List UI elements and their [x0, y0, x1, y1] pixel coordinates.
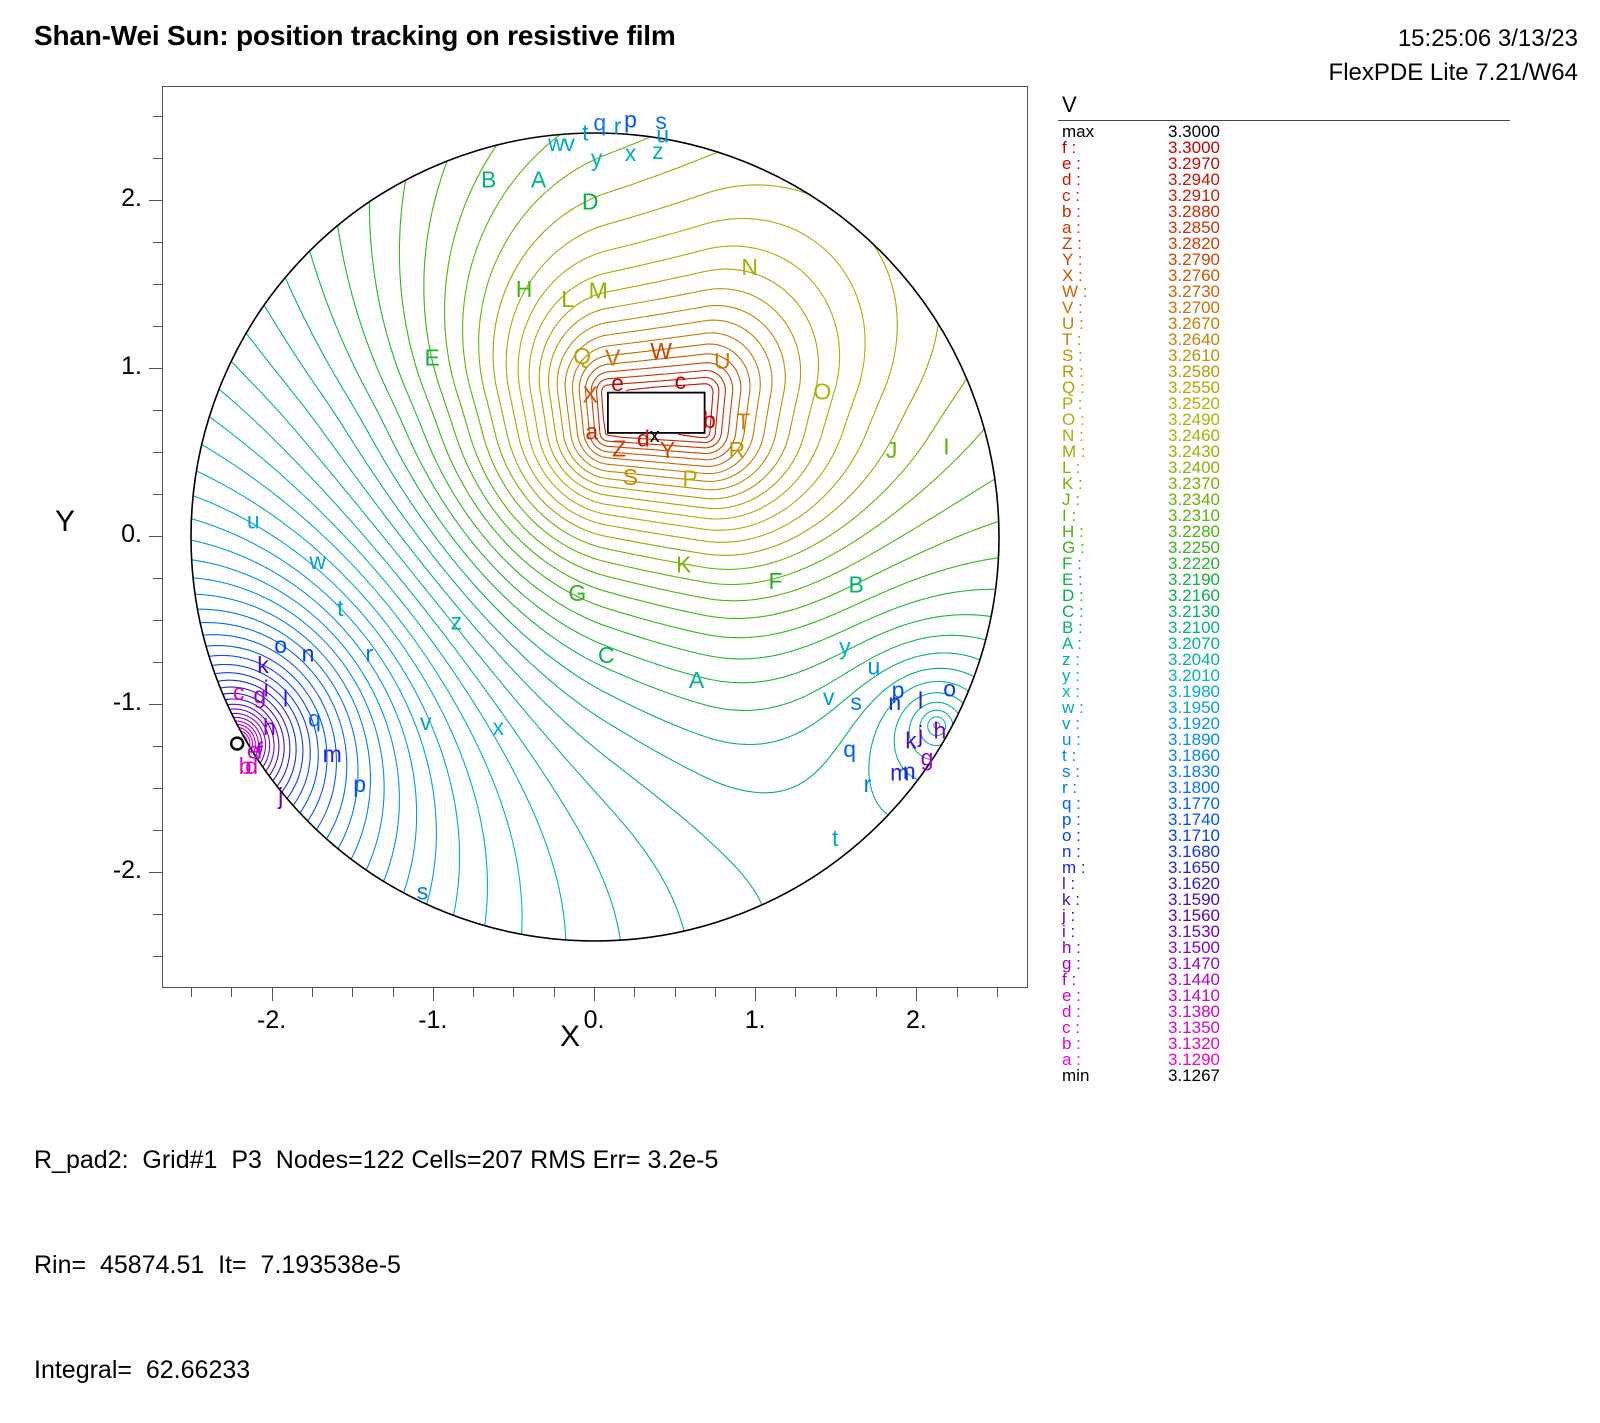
- y-axis-tick: [153, 830, 162, 831]
- legend-row: T :3.2640: [1058, 332, 1558, 348]
- legend-row: K :3.2370: [1058, 476, 1558, 492]
- contour-label: V: [605, 345, 621, 371]
- x-axis-tick: [594, 988, 595, 1001]
- contour-label: E: [425, 345, 440, 371]
- contour-label: x: [625, 140, 637, 166]
- legend-row: b :3.1320: [1058, 1036, 1558, 1052]
- contour-label: c: [233, 679, 245, 705]
- contour-line: [479, 97, 1004, 569]
- contour-label: l: [283, 686, 288, 712]
- contour-label: n: [302, 640, 315, 666]
- contour-label: M: [589, 278, 608, 304]
- legend-row: C :3.2130: [1058, 604, 1558, 620]
- contour-line: [173, 537, 417, 977]
- contour-label: q: [843, 736, 856, 762]
- legend-variable-label: V: [1062, 92, 1558, 118]
- x-tick-label: 1.: [720, 1006, 790, 1035]
- legend-row: Q :3.2550: [1058, 380, 1558, 396]
- legend-row: B :3.2100: [1058, 620, 1558, 636]
- y-tick-label: 2.: [62, 184, 142, 213]
- x-axis-tick: [272, 988, 273, 1001]
- contour-label: H: [516, 276, 533, 302]
- legend-row: w :3.1950: [1058, 700, 1558, 716]
- contour-line: [173, 300, 977, 977]
- legend-row: b :3.2880: [1058, 204, 1558, 220]
- footer-line-1: R_pad2: Grid#1 P3 Nodes=122 Cells=207 RM…: [34, 1143, 718, 1178]
- contour-plot-canvas: x qrpstuwvyxzBADNHLMEQVWUOecXbTadZYRJISP…: [163, 87, 1027, 987]
- contour-label: h: [934, 717, 947, 743]
- contour-line: [226, 97, 1018, 977]
- contour-label: W: [650, 338, 672, 364]
- y-axis-tick: [153, 620, 162, 621]
- contour-line: [173, 558, 400, 977]
- contour-legend: V max 3.3000 f :3.3000e :3.2970d :3.2940…: [1058, 92, 1558, 1084]
- legend-row: v :3.1920: [1058, 716, 1558, 732]
- legend-row: s :3.1830: [1058, 764, 1558, 780]
- contour-label: T: [736, 409, 750, 435]
- legend-row: N :3.2460: [1058, 428, 1558, 444]
- contour-label: g: [921, 744, 934, 770]
- legend-row: F :3.2220: [1058, 556, 1558, 572]
- contour-label: Z: [612, 435, 626, 461]
- contour-label: n: [903, 758, 916, 784]
- legend-row: k :3.1590: [1058, 892, 1558, 908]
- contour-label: w: [308, 548, 326, 574]
- footer-line-2: Rin= 45874.51 It= 7.193538e-5: [34, 1248, 718, 1283]
- contour-label: i: [264, 676, 269, 702]
- x-axis-tick: [231, 988, 232, 997]
- contour-label: m: [323, 741, 342, 767]
- x-axis-tick: [554, 988, 555, 997]
- contour-plot-frame: x qrpstuwvyxzBADNHLMEQVWUOecXbTadZYRJISP…: [162, 86, 1028, 988]
- contour-label: o: [274, 632, 287, 658]
- software-version: FlexPDE Lite 7.21/W64: [1329, 56, 1578, 90]
- marker-group: x: [231, 425, 659, 749]
- y-axis-tick: [149, 872, 162, 873]
- x-axis-tick: [352, 988, 353, 997]
- ground-electrode-marker: [231, 738, 243, 750]
- legend-row: q :3.1770: [1058, 796, 1558, 812]
- contour-label: o: [943, 676, 956, 702]
- x-tick-label: -2.: [237, 1006, 307, 1035]
- legend-row: m :3.1650: [1058, 860, 1558, 876]
- y-tick-label: -1.: [62, 688, 142, 717]
- legend-row: U :3.2670: [1058, 316, 1558, 332]
- x-axis-tick: [957, 988, 958, 997]
- contour-label: B: [481, 167, 496, 193]
- contour-label: N: [741, 254, 758, 280]
- contour-label: z: [451, 608, 463, 634]
- y-axis-tick: [153, 158, 162, 159]
- legend-row: x :3.1980: [1058, 684, 1558, 700]
- legend-min-value: 3.1267: [1168, 1068, 1220, 1084]
- contour-label: C: [598, 642, 615, 668]
- y-axis-tick: [149, 368, 162, 369]
- x-axis-tick: [393, 988, 394, 997]
- legend-row: W :3.2730: [1058, 284, 1558, 300]
- contour-label: b: [703, 407, 716, 433]
- x-axis-tick: [634, 988, 635, 997]
- legend-row: z :3.2040: [1058, 652, 1558, 668]
- legend-row: J :3.2340: [1058, 492, 1558, 508]
- legend-row: u :3.1890: [1058, 732, 1558, 748]
- x-axis-tick: [755, 988, 756, 1001]
- contour-line: [173, 460, 940, 977]
- y-tick-label: 1.: [62, 352, 142, 381]
- contour-label: j: [917, 721, 923, 747]
- legend-row: g :3.1470: [1058, 956, 1558, 972]
- contour-label: e: [611, 370, 624, 396]
- x-axis-tick: [513, 988, 514, 997]
- legend-row: e :3.2970: [1058, 156, 1558, 172]
- legend-row: c :3.2910: [1058, 188, 1558, 204]
- legend-row: a :3.1290: [1058, 1052, 1558, 1068]
- contour-label: r: [864, 771, 872, 797]
- x-axis-tick: [715, 988, 716, 997]
- legend-row: D :3.2160: [1058, 588, 1558, 604]
- contour-label: c: [675, 368, 687, 394]
- contour-label-group: qrpstuwvyxzBADNHLMEQVWUOecXbTadZYRJISPuK…: [233, 106, 956, 904]
- contour-label: y: [591, 145, 603, 171]
- y-axis-tick: [153, 242, 162, 243]
- contour-label: q: [593, 110, 606, 136]
- legend-row: f :3.3000: [1058, 140, 1558, 156]
- contour-label: z: [652, 138, 664, 164]
- contour-label: u: [247, 508, 260, 534]
- legend-row: c :3.1350: [1058, 1020, 1558, 1036]
- legend-row: Y :3.2790: [1058, 252, 1558, 268]
- contour-label: P: [682, 466, 697, 492]
- x-tick-label: -1.: [398, 1006, 468, 1035]
- contour-label: Y: [660, 437, 675, 463]
- contour-line: [173, 514, 437, 977]
- legend-row: X :3.2760: [1058, 268, 1558, 284]
- contour-lines: [173, 97, 1018, 977]
- legend-row-min: min 3.1267: [1058, 1068, 1558, 1084]
- contour-label: s: [417, 879, 429, 905]
- legend-row: n :3.1680: [1058, 844, 1558, 860]
- legend-row: G :3.2250: [1058, 540, 1558, 556]
- legend-row: p :3.1740: [1058, 812, 1558, 828]
- x-axis-tick: [312, 988, 313, 997]
- contour-label: l: [918, 687, 923, 713]
- legend-row: H :3.2280: [1058, 524, 1558, 540]
- legend-row: a :3.2850: [1058, 220, 1558, 236]
- x-axis-tick: [433, 988, 434, 1001]
- legend-row: t :3.1860: [1058, 748, 1558, 764]
- x-axis-tick: [876, 988, 877, 997]
- timestamp: 15:25:06 3/13/23: [1329, 22, 1578, 56]
- x-axis-tick: [997, 988, 998, 997]
- legend-row: O :3.2490: [1058, 412, 1558, 428]
- x-axis-tick: [836, 988, 837, 997]
- contour-label: I: [943, 434, 949, 460]
- legend-row: i :3.1530: [1058, 924, 1558, 940]
- legend-row: A :3.2070: [1058, 636, 1558, 652]
- contour-label: k: [905, 728, 917, 754]
- y-axis-tick: [153, 788, 162, 789]
- contour-label: d: [637, 425, 650, 451]
- contour-label: j: [277, 783, 283, 809]
- contour-label: K: [676, 551, 692, 577]
- contour-label: s: [850, 689, 862, 715]
- legend-row: d :3.2940: [1058, 172, 1558, 188]
- tracked-position-marker: x: [650, 425, 660, 447]
- x-axis-tick: [191, 988, 192, 997]
- x-axis-tick: [916, 988, 917, 1001]
- contour-line: [173, 687, 290, 809]
- contour-label: L: [561, 286, 574, 312]
- contour-label: a: [585, 419, 598, 445]
- footer-line-3: Integral= 62.66233: [34, 1353, 718, 1388]
- contour-label: R: [729, 437, 746, 463]
- page-title: Shan-Wei Sun: position tracking on resis…: [34, 20, 676, 52]
- y-axis-tick: [153, 956, 162, 957]
- status-footer: R_pad2: Grid#1 P3 Nodes=122 Cells=207 RM…: [34, 1073, 718, 1423]
- contour-label: y: [839, 634, 851, 660]
- contour-label: U: [714, 348, 731, 374]
- legend-row: M :3.2430: [1058, 444, 1558, 460]
- legend-row: I :3.2310: [1058, 508, 1558, 524]
- legend-min-label: min: [1062, 1068, 1089, 1084]
- legend-row: f :3.1440: [1058, 972, 1558, 988]
- contour-label: w: [547, 130, 565, 156]
- legend-row: h :3.1500: [1058, 940, 1558, 956]
- y-axis-tick: [153, 410, 162, 411]
- y-axis-tick: [149, 704, 162, 705]
- contour-label: O: [813, 378, 831, 404]
- legend-row: j :3.1560: [1058, 908, 1558, 924]
- legend-row: o :3.1710: [1058, 828, 1558, 844]
- legend-row: l :3.1620: [1058, 876, 1558, 892]
- contour-label: p: [624, 106, 637, 132]
- contour-label: F: [769, 568, 783, 594]
- contour-label: h: [263, 714, 276, 740]
- y-axis-tick: [153, 662, 162, 663]
- contour-label: X: [582, 382, 597, 408]
- y-axis-tick: [153, 746, 162, 747]
- legend-row: d :3.1380: [1058, 1004, 1558, 1020]
- contour-label: u: [867, 654, 880, 680]
- legend-row: E :3.2190: [1058, 572, 1558, 588]
- legend-row: V :3.2700: [1058, 300, 1558, 316]
- legend-row: y :3.2010: [1058, 668, 1558, 684]
- legend-row: Z :3.2820: [1058, 236, 1558, 252]
- contour-label: A: [531, 167, 547, 193]
- y-axis-tick: [153, 494, 162, 495]
- legend-row-max: max 3.3000: [1058, 124, 1558, 140]
- legend-divider: [1058, 120, 1510, 121]
- y-axis-tick: [153, 914, 162, 915]
- y-tick-label: -2.: [62, 856, 142, 885]
- y-axis-tick: [153, 326, 162, 327]
- contour-label: Q: [573, 343, 591, 369]
- contour-label: D: [582, 189, 599, 215]
- contour-label: v: [420, 709, 432, 735]
- contour-label: r: [614, 113, 622, 139]
- contour-label: x: [493, 714, 505, 740]
- contour-label: v: [563, 130, 575, 156]
- x-axis-tick: [795, 988, 796, 997]
- contour-line: [173, 121, 1018, 977]
- legend-row: e :3.1410: [1058, 988, 1558, 1004]
- contour-label: r: [365, 640, 373, 666]
- y-axis-tick: [153, 578, 162, 579]
- contour-label: q: [308, 706, 321, 732]
- contour-label: B: [848, 571, 863, 597]
- header-stamp: 15:25:06 3/13/23 FlexPDE Lite 7.21/W64: [1329, 22, 1578, 90]
- legend-row: L :3.2400: [1058, 460, 1558, 476]
- contour-label: A: [689, 667, 705, 693]
- y-axis-tick: [153, 284, 162, 285]
- contour-label: k: [257, 652, 269, 678]
- contour-label: t: [832, 825, 839, 851]
- contour-label: p: [353, 771, 366, 797]
- contour-label: G: [568, 580, 586, 606]
- x-axis-tick: [675, 988, 676, 997]
- contour-label: S: [623, 464, 638, 490]
- contour-label: J: [886, 437, 898, 463]
- y-axis-tick: [153, 452, 162, 453]
- contour-label: t: [337, 595, 344, 621]
- legend-row: r :3.1800: [1058, 780, 1558, 796]
- x-axis-tick: [473, 988, 474, 997]
- contour-label: d: [245, 753, 258, 779]
- legend-row: S :3.2610: [1058, 348, 1558, 364]
- legend-rows: f :3.3000e :3.2970d :3.2940c :3.2910b :3…: [1058, 140, 1558, 1068]
- contour-label: t: [582, 120, 589, 146]
- contour-label: n: [888, 689, 901, 715]
- x-tick-label: 2.: [881, 1006, 951, 1035]
- legend-row: P :3.2520: [1058, 396, 1558, 412]
- contour-label: v: [823, 684, 835, 710]
- legend-row: R :3.2580: [1058, 364, 1558, 380]
- y-axis-tick: [149, 536, 162, 537]
- x-axis-title: X: [560, 1020, 580, 1054]
- y-axis-title: Y: [55, 505, 75, 539]
- y-axis-tick: [153, 116, 162, 117]
- y-axis-tick: [149, 200, 162, 201]
